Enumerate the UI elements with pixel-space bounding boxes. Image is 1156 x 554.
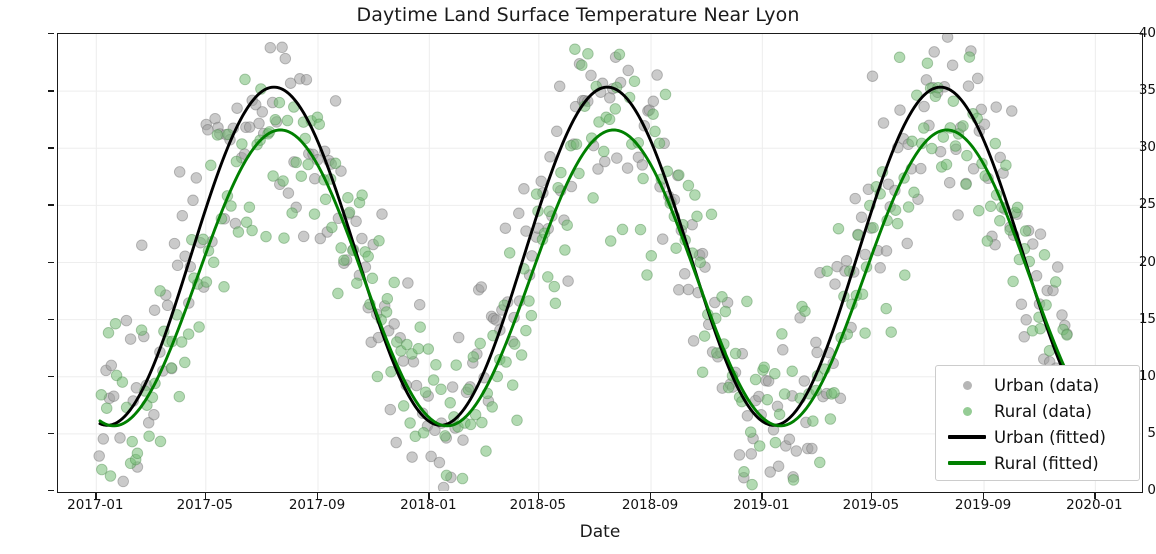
x-tick-label: 2019-01 <box>733 497 789 513</box>
legend-label: Urban (data) <box>990 376 1099 395</box>
legend-item[interactable]: Urban (data) <box>944 372 1131 398</box>
legend-line-swatch <box>944 435 990 438</box>
x-tick-label: 2017-01 <box>67 497 123 513</box>
x-tick-label: 2019-09 <box>955 497 1011 513</box>
x-tick-mark <box>428 493 429 499</box>
y-tick-label: 0 <box>1110 482 1156 498</box>
x-tick-label: 2018-05 <box>510 497 566 513</box>
legend-item[interactable]: Rural (fitted) <box>944 450 1131 476</box>
x-tick-label: 2018-09 <box>622 497 678 513</box>
x-tick-label: 2017-05 <box>177 497 233 513</box>
x-tick-mark <box>538 493 539 499</box>
x-tick-mark <box>317 493 318 499</box>
x-tick-label: 2019-05 <box>843 497 899 513</box>
x-tick-mark <box>95 493 96 499</box>
y-tick-mark <box>48 90 54 91</box>
x-tick-mark <box>761 493 762 499</box>
x-tick-mark <box>983 493 984 499</box>
x-tick-mark <box>650 493 651 499</box>
x-tick-mark <box>205 493 206 499</box>
y-tick-mark <box>48 262 54 263</box>
y-tick-mark <box>48 376 54 377</box>
y-tick-label: 30 <box>1110 139 1156 155</box>
x-tick-label: 2017-09 <box>289 497 345 513</box>
y-tick-mark <box>48 433 54 434</box>
x-axis-label: Date <box>57 522 1143 542</box>
legend-label: Rural (data) <box>990 402 1092 421</box>
legend-item[interactable]: Rural (data) <box>944 398 1131 424</box>
x-tick-label: 2018-01 <box>400 497 456 513</box>
y-tick-label: 25 <box>1110 196 1156 212</box>
fitted-lines <box>100 87 1071 426</box>
y-tick-mark <box>48 319 54 320</box>
swatch <box>963 381 972 390</box>
legend-line-swatch <box>944 461 990 464</box>
y-tick-label: 35 <box>1110 82 1156 98</box>
x-tick-mark <box>871 493 872 499</box>
legend-label: Rural (fitted) <box>990 454 1099 473</box>
swatch <box>948 461 986 464</box>
x-tick-label: 2020-01 <box>1066 497 1122 513</box>
fitted-curve <box>100 130 1071 426</box>
swatch <box>948 435 986 438</box>
y-tick-mark <box>48 147 54 148</box>
fitted-curve <box>100 87 1071 425</box>
x-tick-mark <box>1094 493 1095 499</box>
legend-item[interactable]: Urban (fitted) <box>944 424 1131 450</box>
y-tick-mark <box>48 33 54 34</box>
chart-title: Daytime Land Surface Temperature Near Ly… <box>0 4 1156 26</box>
y-tick-label: 40 <box>1110 25 1156 41</box>
chart-root: Daytime Land Surface Temperature Near Ly… <box>0 0 1156 554</box>
legend-marker-swatch <box>944 381 990 390</box>
y-tick-label: 20 <box>1110 254 1156 270</box>
chart-legend: Urban (data)Rural (data)Urban (fitted)Ru… <box>935 365 1140 481</box>
legend-marker-swatch <box>944 407 990 416</box>
legend-label: Urban (fitted) <box>990 428 1106 447</box>
swatch <box>963 407 972 416</box>
y-tick-label: 15 <box>1110 311 1156 327</box>
y-tick-mark <box>48 490 54 491</box>
y-tick-mark <box>48 204 54 205</box>
